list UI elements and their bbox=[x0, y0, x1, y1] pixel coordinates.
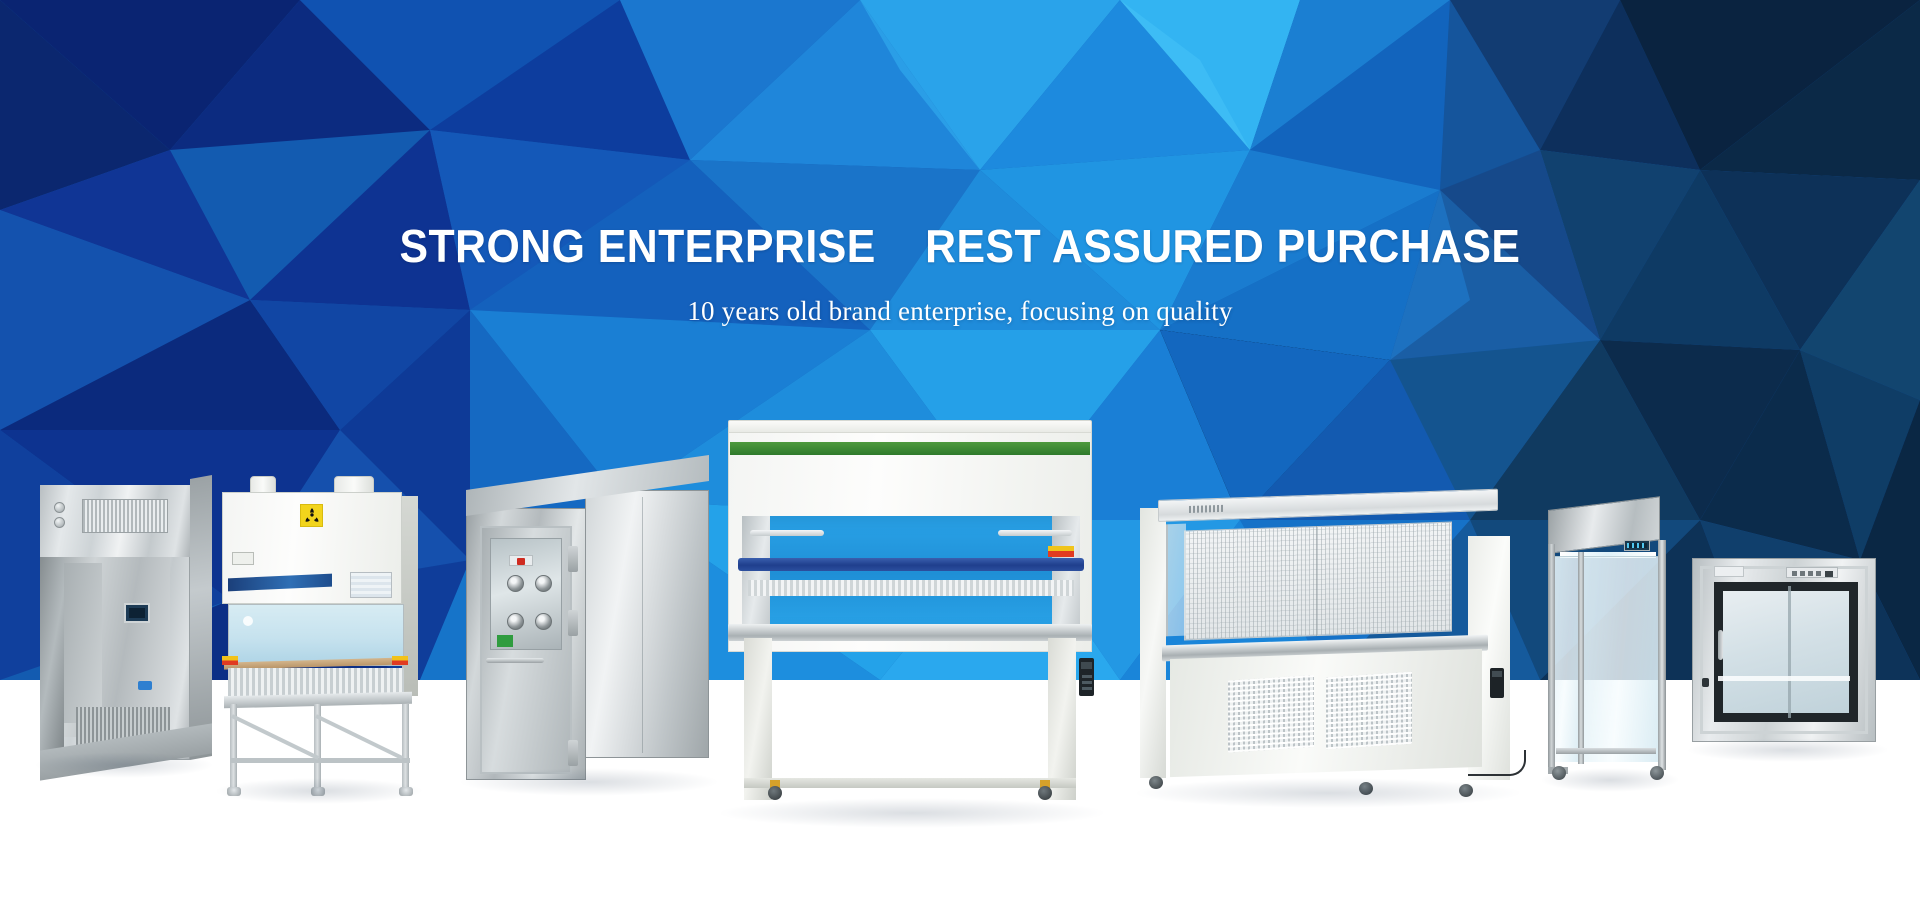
product-air-shower bbox=[466, 490, 710, 790]
product-horizontal-clean-bench bbox=[720, 420, 1100, 820]
base-return-vent bbox=[1326, 672, 1412, 750]
air-nozzle-icon bbox=[507, 613, 524, 630]
booth-frame-post bbox=[1578, 552, 1584, 764]
product-shadow bbox=[1132, 778, 1524, 808]
product-vertical-clean-bench bbox=[1140, 500, 1510, 800]
cabinet-glass-sash bbox=[228, 604, 404, 666]
cabinet-side-panel bbox=[402, 496, 418, 696]
booth-base-rail bbox=[1556, 748, 1656, 754]
biohazard-icon bbox=[300, 504, 323, 527]
product-shadow bbox=[1540, 768, 1680, 792]
product-shadow bbox=[34, 752, 214, 778]
door-handle bbox=[486, 658, 544, 663]
booth-knob-icon bbox=[54, 502, 65, 513]
product-lineup bbox=[0, 0, 1920, 900]
product-sampling-booth bbox=[40, 485, 200, 775]
hepa-filter-panel bbox=[1184, 522, 1452, 641]
booth-frame-post bbox=[1548, 544, 1555, 770]
cabinet-warning-tag bbox=[222, 656, 238, 665]
booth-glass-curtain bbox=[1554, 556, 1580, 762]
stand-brace bbox=[230, 758, 410, 763]
air-shower-view-window bbox=[490, 538, 562, 650]
hepa-filter-divider bbox=[1316, 526, 1317, 636]
power-cord bbox=[1468, 750, 1526, 776]
pass-box-nameplate bbox=[1714, 566, 1744, 577]
stand-leg bbox=[402, 704, 409, 790]
pass-box-shelf bbox=[1718, 676, 1850, 681]
booth-top-grille bbox=[82, 499, 168, 533]
bench-counter-edge bbox=[728, 624, 1092, 641]
stand-diagonal bbox=[315, 714, 403, 760]
air-shower-indicator-label bbox=[509, 555, 533, 566]
cabinet-label-plate bbox=[232, 552, 254, 565]
bench-stand-leg bbox=[744, 638, 772, 800]
product-pass-box bbox=[1692, 558, 1882, 748]
booth-side-panel bbox=[190, 475, 212, 760]
cabinet-warning-tag bbox=[392, 656, 408, 665]
product-shadow bbox=[214, 778, 424, 804]
air-nozzle-icon bbox=[535, 613, 552, 630]
pass-box-window-divider bbox=[1788, 586, 1791, 718]
bench-perforated-surface bbox=[748, 580, 1074, 596]
bench-warning-label bbox=[1048, 546, 1074, 557]
chamber-lamp-icon bbox=[750, 530, 824, 536]
booth-frame-post bbox=[1658, 540, 1666, 770]
cabinet-control-panel bbox=[350, 572, 392, 598]
air-shower-door bbox=[480, 526, 572, 774]
bench-work-chamber bbox=[742, 516, 1080, 636]
caster-wheel-icon bbox=[766, 780, 784, 800]
booth-knob-icon bbox=[54, 517, 65, 528]
door-hinge bbox=[568, 610, 578, 636]
caster-wheel-icon bbox=[1036, 780, 1054, 800]
booth-door bbox=[40, 557, 64, 757]
product-shadow bbox=[716, 798, 1108, 828]
chamber-lamp-icon bbox=[998, 530, 1072, 536]
bench-stand-leg bbox=[1048, 638, 1076, 800]
bench-front-beam bbox=[738, 558, 1084, 571]
stand-diagonal bbox=[231, 714, 319, 760]
bench-left-column bbox=[1140, 508, 1166, 778]
pass-box-door-handle bbox=[1718, 630, 1723, 660]
pass-box-interlock-button bbox=[1702, 678, 1709, 687]
bench-keypad bbox=[1079, 658, 1094, 696]
booth-power-outlet-icon bbox=[138, 681, 152, 690]
pass-box-control-panel bbox=[1786, 567, 1838, 578]
air-nozzle-icon bbox=[507, 575, 524, 592]
brand-logo-icon bbox=[1189, 505, 1223, 513]
air-shower-green-label bbox=[497, 635, 513, 647]
air-nozzle-icon bbox=[535, 575, 552, 592]
booth-inner-panel bbox=[62, 563, 102, 723]
booth-touch-screen bbox=[124, 603, 150, 623]
hero-banner: STRONG ENTERPRISE REST ASSURED PURCHASE … bbox=[0, 0, 1920, 900]
bench-top-cap bbox=[1158, 489, 1498, 522]
product-biosafety-cabinet bbox=[222, 492, 422, 792]
booth-glass-curtain bbox=[1583, 556, 1659, 762]
base-return-vent bbox=[1228, 675, 1314, 753]
bench-side-glass bbox=[1166, 524, 1186, 637]
bench-keypad bbox=[1490, 668, 1504, 698]
product-clean-booth bbox=[1548, 510, 1666, 780]
door-hinge bbox=[568, 546, 578, 572]
booth-digital-display bbox=[1624, 540, 1650, 551]
bench-green-stripe bbox=[730, 442, 1090, 455]
bench-base-cabinet bbox=[1170, 649, 1482, 777]
air-shower-right-body bbox=[585, 490, 709, 758]
panel-seam bbox=[642, 497, 643, 753]
bench-foot-rail bbox=[744, 778, 1076, 788]
door-hinge bbox=[568, 740, 578, 766]
product-shadow bbox=[1686, 738, 1890, 762]
product-shadow bbox=[458, 768, 720, 796]
pass-box-window bbox=[1714, 582, 1858, 722]
